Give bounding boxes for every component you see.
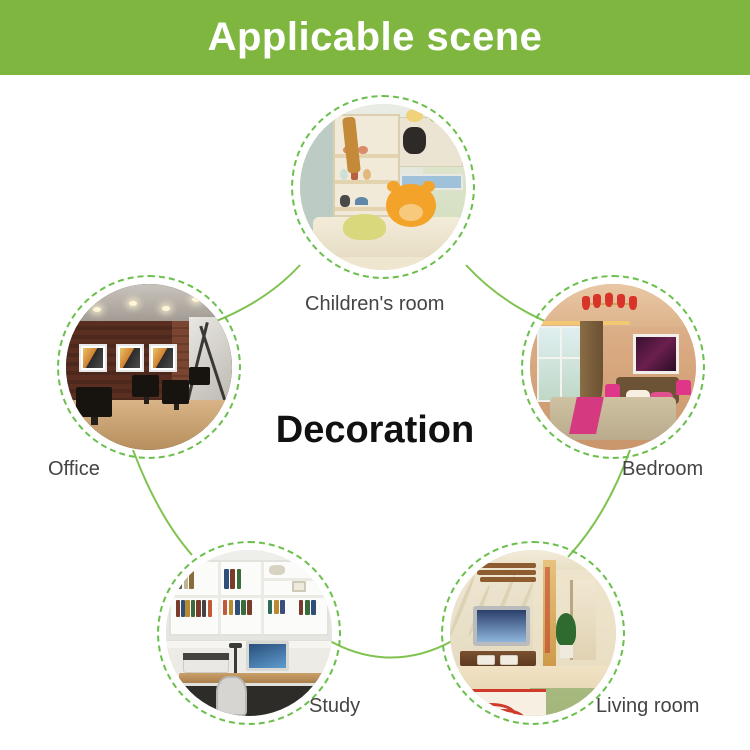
page-title: Applicable scene [208,15,543,60]
node-label-living-room: Living room [596,695,699,718]
node-label-children-room: Children's room [305,293,444,316]
children-room-photo [300,104,466,270]
node-label-bedroom: Bedroom [622,458,703,481]
node-label-study: Study [309,695,360,718]
study-photo [166,550,332,716]
living-room-photo [450,550,616,716]
center-label: Decoration [0,409,750,452]
header-banner: Applicable scene [0,0,750,75]
node-label-office: Office [48,458,100,481]
node-children-room[interactable] [291,95,475,279]
diagram-stage: Children's room [0,75,750,750]
